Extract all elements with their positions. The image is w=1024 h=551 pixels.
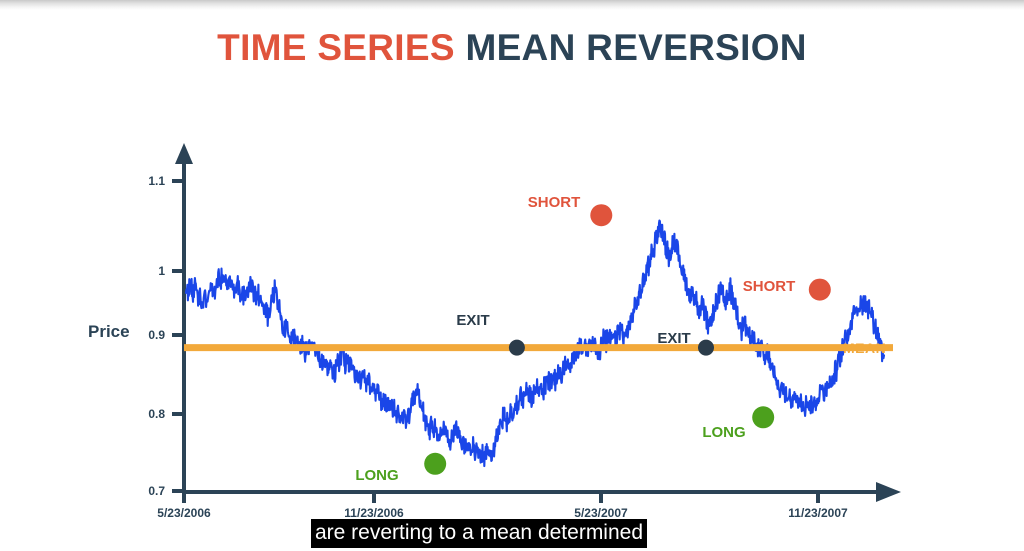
video-caption: are reverting to a mean determined bbox=[311, 519, 647, 548]
x-tick-label: 11/23/2007 bbox=[768, 506, 868, 520]
marker-dot-short bbox=[809, 279, 831, 301]
y-tick-label: 1 bbox=[110, 264, 165, 278]
y-tick-label: 0.7 bbox=[110, 484, 165, 498]
marker-dot-long bbox=[424, 453, 446, 475]
annotation-label-long: LONG bbox=[682, 424, 766, 441]
annotation-label-short: SHORT bbox=[727, 278, 811, 295]
annotation-label-exit: EXIT bbox=[431, 312, 515, 329]
y-tick-label: 1.1 bbox=[110, 174, 165, 188]
annotation-label-long: LONG bbox=[335, 467, 419, 484]
marker-dot-exit bbox=[509, 340, 525, 356]
trade-markers bbox=[424, 204, 831, 475]
annotation-label-exit: EXIT bbox=[632, 330, 716, 347]
y-tick-label: 0.8 bbox=[110, 407, 165, 421]
x-tick-label: 5/23/2007 bbox=[551, 506, 651, 520]
mean-legend-label: MEAN bbox=[843, 340, 886, 356]
x-tick-label: 5/23/2006 bbox=[134, 506, 234, 520]
mean-reversion-chart: Price 1.1 1 0.9 0.8 0.7 5/23/2006 11/23/… bbox=[0, 0, 1024, 551]
price-series-line bbox=[186, 221, 884, 467]
y-tick-label: 0.9 bbox=[110, 328, 165, 342]
annotation-label-short: SHORT bbox=[512, 194, 596, 211]
x-tick-label: 11/23/2006 bbox=[324, 506, 424, 520]
